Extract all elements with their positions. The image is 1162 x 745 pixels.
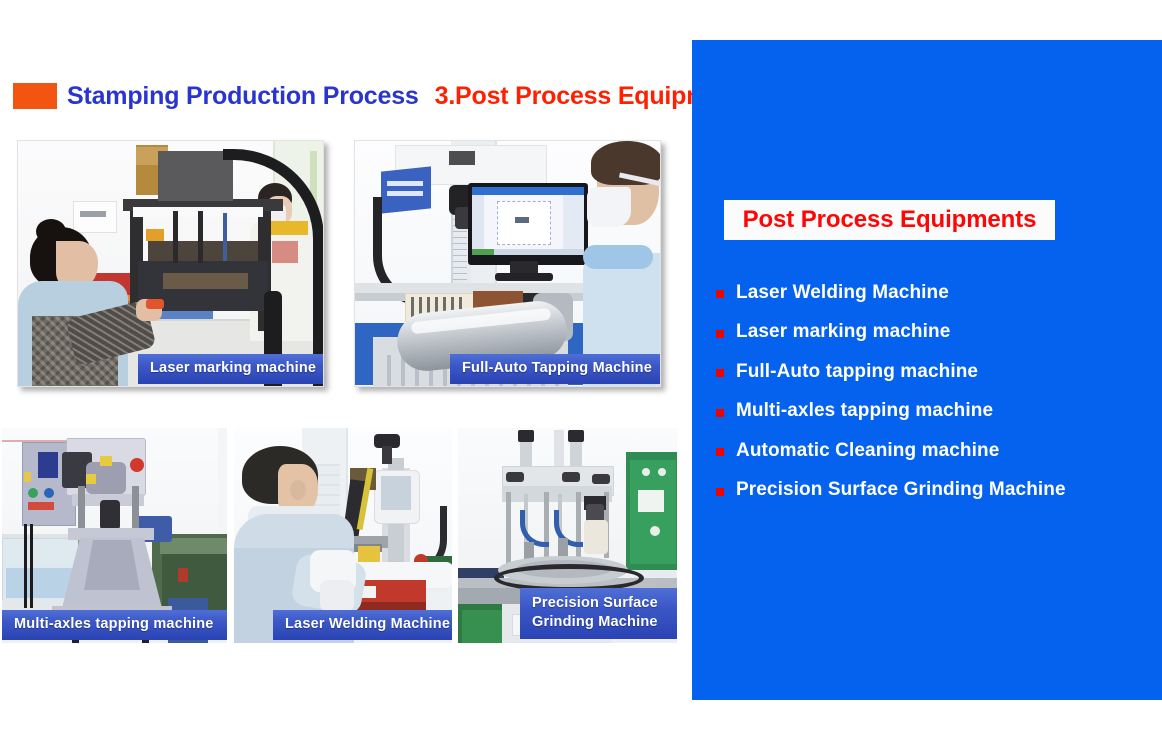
photo-caption-line-1: Precision Surface (532, 594, 665, 613)
list-item-label: Automatic Cleaning machine (736, 440, 999, 462)
photo-laser-welding: Laser Welding Machine (234, 428, 452, 643)
photo-precision-grinding: Precision Surface Grinding Machine (458, 428, 677, 643)
orange-square-icon (13, 83, 57, 109)
bullet-square-icon (716, 448, 724, 456)
list-item-label: Full-Auto tapping machine (736, 361, 978, 383)
photo-caption: Precision Surface Grinding Machine (520, 588, 677, 639)
photo-caption: Full-Auto Tapping Machine (450, 354, 660, 384)
panel-heading-box: Post Process Equipments (724, 200, 1055, 240)
photo-caption: Laser Welding Machine (273, 610, 452, 640)
list-item[interactable]: Full-Auto tapping machine (716, 352, 1146, 392)
bullet-square-icon (716, 290, 724, 298)
photo-caption: Laser marking machine (138, 354, 323, 384)
photo-caption-line-2: Grinding Machine (532, 613, 665, 632)
panel-heading: Post Process Equipments (743, 206, 1037, 234)
page-header: Stamping Production Process 3.Post Proce… (0, 76, 690, 116)
list-item-label: Precision Surface Grinding Machine (736, 479, 1066, 501)
list-item-label: Multi-axles tapping machine (736, 400, 993, 422)
photo-full-auto-tapping: Full-Auto Tapping Machine (354, 140, 661, 387)
photo-laser-marking: Laser marking machine (17, 140, 324, 387)
list-item[interactable]: Precision Surface Grinding Machine (716, 471, 1146, 511)
bullet-square-icon (716, 488, 724, 496)
list-item-label: Laser marking machine (736, 321, 950, 343)
list-item[interactable]: Laser Welding Machine (716, 273, 1146, 313)
page-title-primary: Stamping Production Process (67, 82, 419, 111)
photo-multi-axles-tapping: Multi-axles tapping machine (2, 428, 227, 643)
post-process-panel: Post Process Equipments Laser Welding Ma… (692, 40, 1162, 700)
bullet-square-icon (716, 369, 724, 377)
list-item[interactable]: Multi-axles tapping machine (716, 392, 1146, 432)
list-item-label: Laser Welding Machine (736, 282, 949, 304)
photo-caption: Multi-axles tapping machine (2, 610, 227, 640)
bullet-square-icon (716, 330, 724, 338)
equipment-list: Laser Welding Machine Laser marking mach… (716, 273, 1146, 510)
list-item[interactable]: Laser marking machine (716, 313, 1146, 353)
photo-laser-marking-image (18, 141, 323, 386)
bullet-square-icon (716, 409, 724, 417)
photo-full-auto-tapping-image (355, 141, 660, 386)
list-item[interactable]: Automatic Cleaning machine (716, 431, 1146, 471)
